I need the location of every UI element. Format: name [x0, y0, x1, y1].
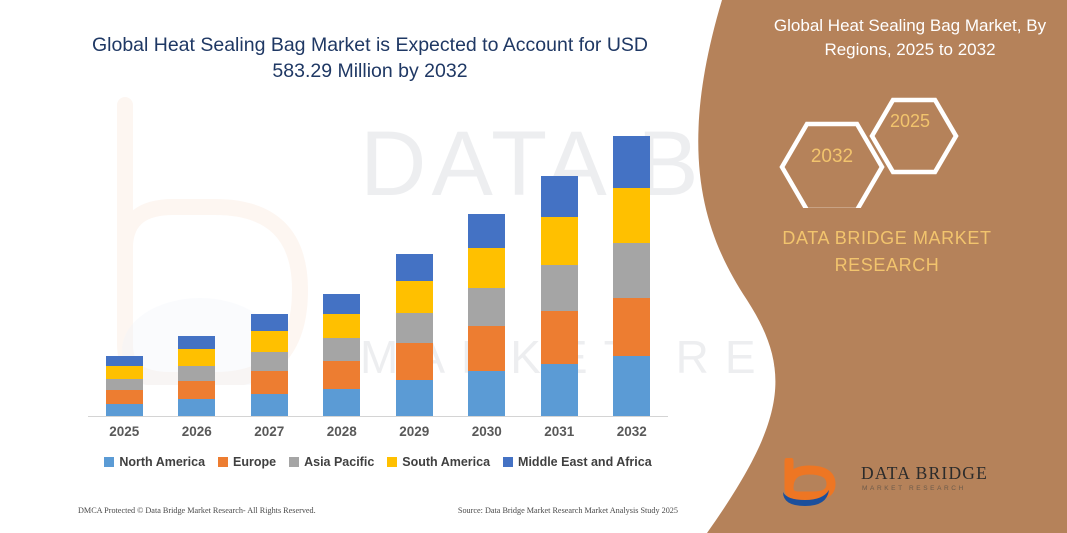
brand-logo: DATA BRIDGE MARKET RESEARCH [779, 458, 1009, 510]
legend-item[interactable]: South America [387, 455, 490, 469]
logo-subtitle: MARKET RESEARCH [862, 485, 966, 492]
bar-segment [251, 394, 288, 416]
x-axis-label: 2025 [89, 424, 159, 439]
bar-segment [251, 314, 288, 331]
stacked-bar [178, 336, 215, 416]
bar-segment [323, 361, 360, 389]
bar-column [162, 120, 232, 416]
legend-swatch [104, 457, 114, 467]
bar-segment [396, 281, 433, 313]
data-bridge-logo-icon [779, 458, 859, 508]
x-axis-labels: 20252026202720282029203020312032 [88, 424, 668, 439]
stacked-bar [396, 254, 433, 416]
bar-segment [323, 338, 360, 361]
bar-segment [396, 254, 433, 281]
legend-swatch [503, 457, 513, 467]
bar-segment [106, 356, 143, 366]
bar-segment [613, 243, 650, 298]
legend-item[interactable]: Middle East and Africa [503, 455, 652, 469]
legend-swatch [289, 457, 299, 467]
legend-label: Asia Pacific [304, 455, 374, 469]
bar-segment [468, 214, 505, 248]
legend-item[interactable]: Europe [218, 455, 276, 469]
bar-segment [396, 380, 433, 416]
footer: DMCA Protected © Data Bridge Market Rese… [78, 506, 678, 515]
logo-text: DATA BRIDGE [861, 463, 988, 484]
footer-source: Source: Data Bridge Market Research Mark… [458, 506, 678, 515]
bar-segment [178, 336, 215, 349]
bar-column [379, 120, 449, 416]
bar-segment [541, 311, 578, 364]
bar-segment [323, 389, 360, 416]
bar-segment [106, 366, 143, 379]
bar-segment [541, 176, 578, 217]
brand-name: DATA BRIDGE MARKET RESEARCH [737, 225, 1037, 279]
infographic-root: DATA BRIDGE MARKET RESEARCH Global Heat … [0, 0, 1067, 533]
x-axis-label: 2031 [524, 424, 594, 439]
bar-column [89, 120, 159, 416]
bar-segment [468, 326, 505, 371]
stacked-bar [323, 294, 360, 416]
chart-section: Global Heat Sealing Bag Market is Expect… [0, 0, 745, 533]
page-title: Global Heat Sealing Bag Market is Expect… [60, 32, 680, 85]
bar-segment [178, 349, 215, 366]
bar-segment [106, 379, 143, 390]
legend-item[interactable]: Asia Pacific [289, 455, 374, 469]
bar-segment [468, 371, 505, 416]
bar-column [597, 120, 667, 416]
hexagon-start-year: 2025 [867, 111, 953, 132]
bar-segment [541, 364, 578, 416]
bar-segment [613, 136, 650, 188]
x-axis-label: 2030 [452, 424, 522, 439]
bar-segment [178, 399, 215, 416]
stacked-bar [251, 314, 288, 416]
x-axis-label: 2029 [379, 424, 449, 439]
panel-title: Global Heat Sealing Bag Market, By Regio… [765, 14, 1055, 62]
x-axis-label: 2032 [597, 424, 667, 439]
bar-segment [106, 390, 143, 404]
bar-segment [541, 217, 578, 265]
bar-column [234, 120, 304, 416]
bar-segment [613, 356, 650, 416]
bar-segment [468, 288, 505, 326]
chart-plot-area [88, 120, 668, 416]
bar-segment [178, 381, 215, 399]
bar-segment [106, 404, 143, 416]
legend-label: North America [119, 455, 205, 469]
bar-segment [323, 294, 360, 314]
x-axis-label: 2027 [234, 424, 304, 439]
bar-segment [468, 248, 505, 288]
bar-segment [613, 188, 650, 243]
bar-column [452, 120, 522, 416]
bar-segment [396, 343, 433, 380]
bar-segment [178, 366, 215, 381]
x-axis-label: 2026 [162, 424, 232, 439]
bar-column [524, 120, 594, 416]
stacked-bar [468, 214, 505, 416]
bar-column [307, 120, 377, 416]
legend-swatch [218, 457, 228, 467]
hexagon-group: 2032 2025 [767, 88, 1007, 208]
hexagon-end-year: 2032 [787, 146, 877, 168]
bar-segment [251, 352, 288, 371]
legend-swatch [387, 457, 397, 467]
x-axis-line [88, 416, 668, 417]
bar-group [88, 120, 668, 416]
brand-panel: Global Heat Sealing Bag Market, By Regio… [667, 0, 1067, 533]
stacked-bar [541, 176, 578, 416]
legend-label: South America [402, 455, 490, 469]
legend-label: Middle East and Africa [518, 455, 652, 469]
stacked-bar [613, 136, 650, 416]
bar-segment [251, 331, 288, 352]
legend-label: Europe [233, 455, 276, 469]
legend-item[interactable]: North America [104, 455, 205, 469]
bar-segment [613, 298, 650, 356]
bar-segment [323, 314, 360, 338]
chart-legend: North AmericaEuropeAsia PacificSouth Ame… [88, 455, 668, 469]
bar-segment [541, 265, 578, 311]
bar-segment [251, 371, 288, 394]
stacked-bar [106, 356, 143, 416]
footer-copyright: DMCA Protected © Data Bridge Market Rese… [78, 506, 316, 515]
x-axis-label: 2028 [307, 424, 377, 439]
bar-segment [396, 313, 433, 343]
